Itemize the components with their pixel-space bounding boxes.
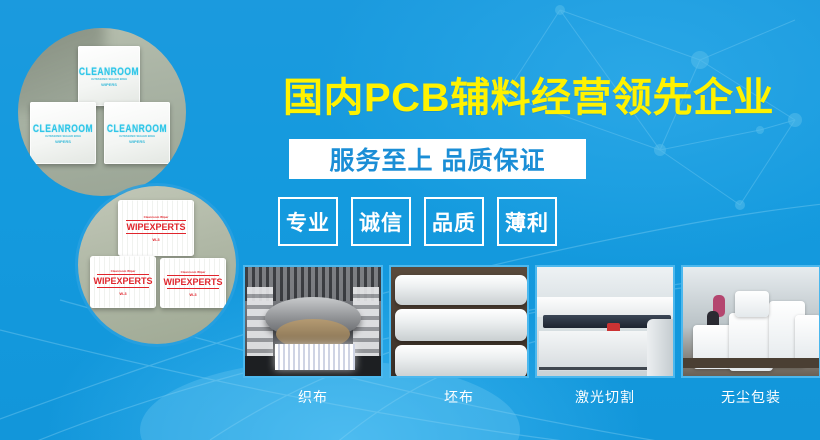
feature-tag-lowmargin: 薄利 — [497, 197, 557, 246]
feature-tag-list: 专业 诚信 品质 薄利 — [278, 197, 557, 246]
pack-subtitle: ULTRASONIC SEALED EDGE — [45, 135, 81, 138]
process-thumb-weaving — [243, 265, 383, 378]
pack-brand: CLEANROOM — [33, 121, 93, 134]
knitted-fabric — [275, 344, 355, 370]
pack-rule — [97, 274, 148, 275]
fabric-rolls-photo — [391, 267, 527, 376]
machine-top — [537, 297, 675, 317]
process-thumb-packing — [681, 265, 820, 378]
wipe-bale — [735, 291, 769, 317]
process-cell-lasercut: 激光切割 — [535, 265, 675, 407]
process-cell-weaving: 织布 — [243, 265, 383, 407]
pack-mark: W-3 — [152, 237, 159, 242]
process-photo-strip: 织布 坯布 — [243, 265, 820, 407]
process-caption-weaving: 织布 — [243, 387, 383, 407]
fabric-roll — [395, 275, 527, 305]
pack-rule — [126, 220, 185, 221]
pack-brand: WIPEXPERTS — [93, 275, 152, 286]
work-table — [683, 358, 820, 368]
feature-tag-integrity: 诚信 — [351, 197, 411, 246]
wipe-bale — [795, 315, 820, 363]
pack-topline: Cleanroom Wiper — [144, 215, 169, 219]
process-caption-greige: 坯布 — [389, 387, 529, 407]
cleanroom-pack: CLEANROOM ULTRASONIC SEALED EDGE WIPERS — [78, 46, 140, 106]
fabric-roll — [395, 309, 527, 341]
banner-headline: 国内PCB辅料经营领先企业 — [283, 72, 793, 124]
cleanroom-pack: CLEANROOM ULTRASONIC SEALED EDGE WIPERS — [30, 102, 96, 164]
pack-rule — [126, 233, 185, 234]
product-circle-cleanroom: CLEANROOM ULTRASONIC SEALED EDGE WIPERS … — [18, 28, 186, 196]
process-thumb-lasercut — [535, 265, 675, 378]
pack-type: WIPERS — [55, 139, 71, 144]
laser-cutter-photo — [537, 267, 673, 376]
pack-topline: Cleanroom Wiper — [181, 270, 206, 274]
machine-side-panel — [647, 319, 673, 378]
room-wall — [537, 267, 675, 297]
process-cell-packing: 无尘包装 — [681, 265, 820, 407]
pack-brand: CLEANROOM — [107, 121, 167, 134]
pack-mark: W-3 — [189, 292, 196, 297]
pack-rule — [167, 275, 218, 276]
feature-tag-quality: 品质 — [424, 197, 484, 246]
cleanroom-pack: CLEANROOM ULTRASONIC SEALED EDGE WIPERS — [104, 102, 170, 164]
cleanroom-photo: CLEANROOM ULTRASONIC SEALED EDGE WIPERS … — [18, 28, 186, 196]
promo-banner: CLEANROOM ULTRASONIC SEALED EDGE WIPERS … — [0, 0, 820, 440]
pack-brand: WIPEXPERTS — [126, 221, 185, 232]
knitting-machine-photo — [245, 267, 381, 376]
packing-room-photo — [683, 267, 819, 376]
pack-brand: WIPEXPERTS — [163, 276, 222, 287]
feature-tag-professional: 专业 — [278, 197, 338, 246]
wipexperts-pack: Cleanroom Wiper WIPEXPERTS W-3 — [90, 256, 156, 308]
pack-mark: W-3 — [119, 291, 126, 296]
pack-type: WIPERS — [101, 82, 117, 87]
pack-subtitle: ULTRASONIC SEALED EDGE — [91, 78, 127, 81]
process-caption-lasercut: 激光切割 — [535, 387, 675, 407]
pack-subtitle: ULTRASONIC SEALED EDGE — [119, 135, 155, 138]
process-thumb-greige — [389, 265, 529, 378]
pack-type: WIPERS — [129, 139, 145, 144]
wipexperts-pack: Cleanroom Wiper WIPEXPERTS W-3 — [160, 258, 226, 308]
slogan-box: 服务至上 品质保证 — [289, 139, 586, 179]
slogan-text: 服务至上 品质保证 — [330, 141, 546, 177]
pack-brand: CLEANROOM — [79, 64, 139, 77]
pack-topline: Cleanroom Wiper — [111, 269, 136, 273]
product-circle-wipexperts: Cleanroom Wiper WIPEXPERTS W-3 Cleanroom… — [78, 186, 236, 344]
process-caption-packing: 无尘包装 — [681, 387, 820, 407]
pack-rule — [167, 288, 218, 289]
wipexperts-photo: Cleanroom Wiper WIPEXPERTS W-3 Cleanroom… — [78, 186, 236, 344]
pack-rule — [97, 287, 148, 288]
process-cell-greige: 坯布 — [389, 265, 529, 407]
fabric-roll — [395, 345, 527, 378]
wipexperts-pack: Cleanroom Wiper WIPEXPERTS W-3 — [118, 200, 194, 256]
